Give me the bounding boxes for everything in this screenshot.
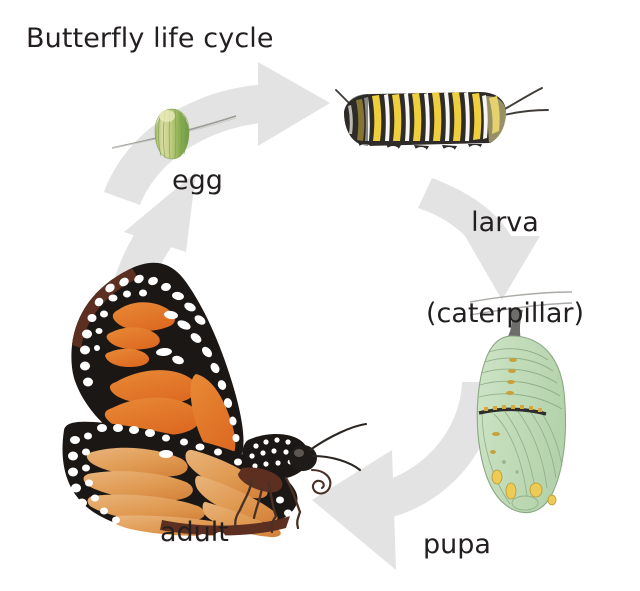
arrow-egg-to-larva bbox=[104, 62, 330, 205]
butterfly-life-cycle-diagram: Butterfly life cycle egg larva (caterpil… bbox=[0, 0, 640, 591]
arrow-larva-to-pupa bbox=[418, 178, 540, 300]
monarch-caterpillar-illustration bbox=[336, 88, 548, 155]
arrow-pupa-to-adult bbox=[312, 382, 498, 570]
monarch-chrysalis-illustration bbox=[470, 292, 572, 513]
life-cycle-illustration-svg bbox=[0, 0, 640, 591]
